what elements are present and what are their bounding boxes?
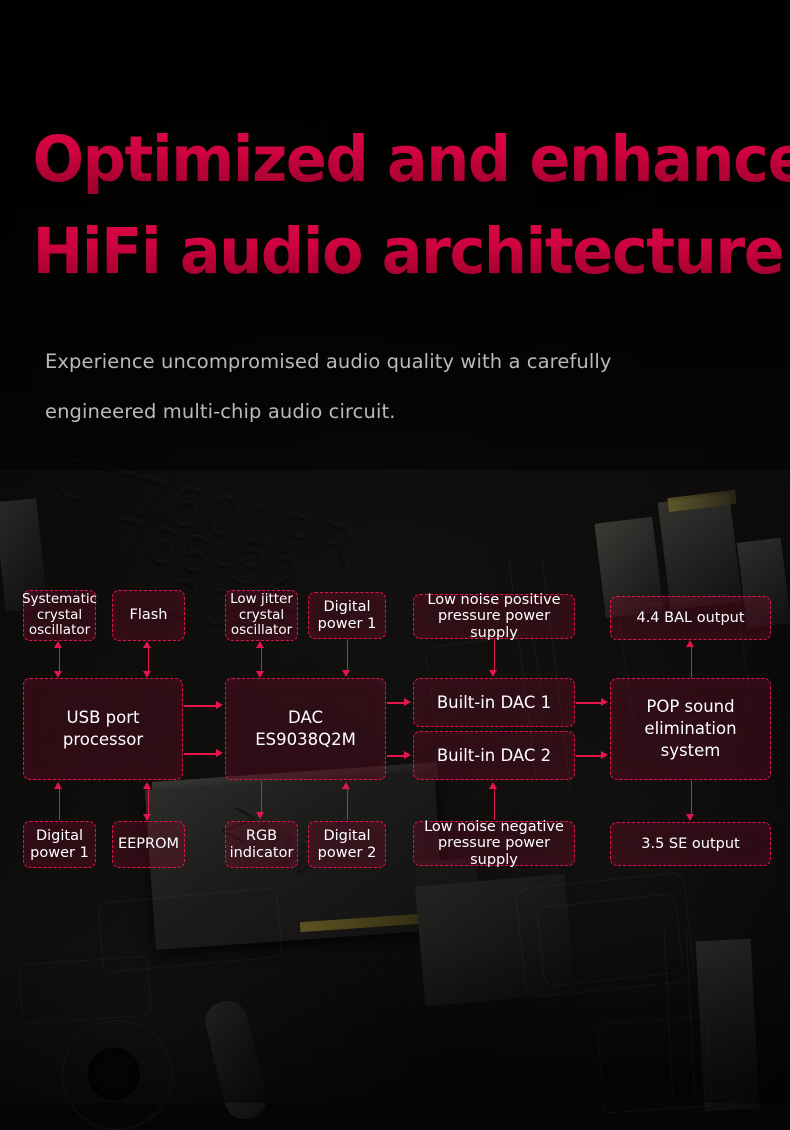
connector-line: [494, 788, 496, 820]
arrowhead-right-icon: [601, 698, 608, 706]
connector-line: [261, 648, 263, 672]
arrowhead-right-icon: [216, 749, 223, 757]
connector-line: [691, 646, 693, 678]
arrowhead-down-icon: [686, 814, 694, 821]
connector-line: [347, 788, 349, 820]
arrowhead-up-icon: [143, 641, 151, 648]
connector-line: [576, 702, 602, 704]
arrowhead-down-icon: [143, 671, 151, 678]
block-low-noise-negative-pressure-power-supply: Low noise negativepressure power supply: [413, 821, 575, 866]
arrowhead-up-icon: [342, 782, 350, 789]
block-digital-power-2: Digitalpower 2: [308, 821, 386, 868]
arrowhead-right-icon: [404, 751, 411, 759]
block-rgb-indicator: RGBindicator: [225, 821, 298, 868]
arrowhead-down-icon: [342, 670, 350, 677]
connector-line: [691, 781, 693, 815]
connector-line: [148, 788, 150, 816]
audio-architecture-diagram: Systematiccrystaloscillator Flash Low ji…: [0, 0, 790, 1103]
connector-line: [148, 648, 150, 672]
arrowhead-down-icon: [143, 814, 151, 821]
arrowhead-down-icon: [256, 671, 264, 678]
block-4-4-bal-output: 4.4 BAL output: [610, 596, 771, 640]
arrowhead-down-icon: [54, 671, 62, 678]
connector-line: [347, 639, 349, 671]
block-dac-es9038q2m: DACES9038Q2M: [225, 678, 386, 780]
connector-line: [59, 648, 61, 672]
arrowhead-up-icon: [54, 782, 62, 789]
block-3-5-se-output: 3.5 SE output: [610, 822, 771, 866]
connector-line: [261, 781, 263, 813]
block-usb-port-processor: USB portprocessor: [23, 678, 183, 780]
connector-line: [184, 705, 217, 707]
arrowhead-up-icon: [54, 641, 62, 648]
connector-line: [387, 702, 405, 704]
arrowhead-up-icon: [143, 782, 151, 789]
connector-line: [576, 755, 602, 757]
block-eeprom: EEPROM: [112, 821, 185, 868]
block-built-in-dac-1: Built-in DAC 1: [413, 678, 575, 727]
arrowhead-down-icon: [256, 812, 264, 819]
connector-line: [184, 753, 217, 755]
arrowhead-right-icon: [601, 751, 608, 759]
block-built-in-dac-2: Built-in DAC 2: [413, 731, 575, 780]
block-low-jitter-crystal-oscillator: Low jittercrystaloscillator: [225, 590, 298, 641]
block-systematic-crystal-oscillator: Systematiccrystaloscillator: [23, 590, 96, 641]
block-flash: Flash: [112, 590, 185, 641]
arrowhead-up-icon: [489, 782, 497, 789]
connector-line: [59, 788, 61, 820]
arrowhead-up-icon: [256, 641, 264, 648]
connector-line: [494, 639, 496, 671]
arrowhead-right-icon: [216, 701, 223, 709]
block-digital-power-1-top: Digitalpower 1: [308, 592, 386, 639]
arrowhead-right-icon: [404, 698, 411, 706]
connector-line: [387, 755, 405, 757]
block-low-noise-positive-pressure-power-supply: Low noise positivepressure power supply: [413, 594, 575, 639]
arrowhead-up-icon: [686, 640, 694, 647]
arrowhead-down-icon: [489, 670, 497, 677]
block-digital-power-1-bottom: Digitalpower 1: [23, 821, 96, 868]
block-pop-sound-elimination-system: POP soundeliminationsystem: [610, 678, 771, 780]
